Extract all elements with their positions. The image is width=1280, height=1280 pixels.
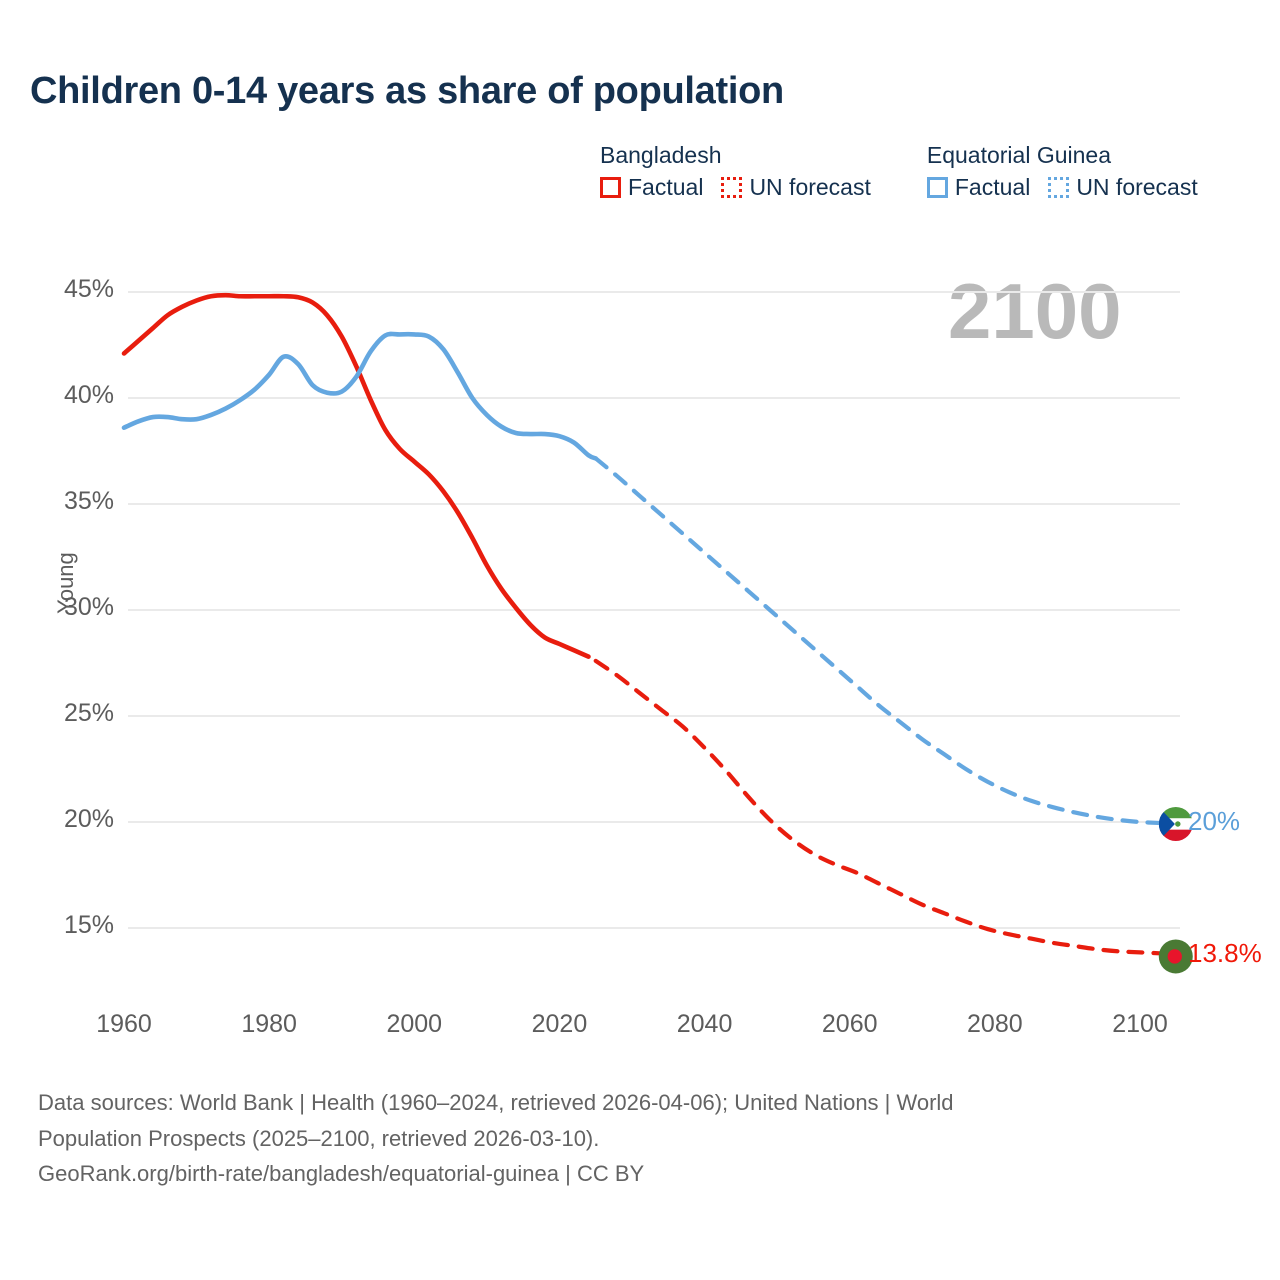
chart-legend: Bangladesh Factual UN forecast Equatoria… (600, 143, 1198, 201)
square-dotted-icon (721, 177, 742, 198)
series-lines (124, 295, 1162, 953)
legend-item-label: UN forecast (1076, 174, 1197, 201)
endpoint-label-equatorial-guinea: 20% (1188, 806, 1240, 837)
legend-item-equatorial-guinea-factual[interactable]: Factual (927, 174, 1030, 201)
legend-country-label: Equatorial Guinea (927, 143, 1198, 168)
legend-item-equatorial-guinea-forecast[interactable]: UN forecast (1048, 174, 1197, 201)
square-outline-icon (927, 177, 948, 198)
page-title: Children 0-14 years as share of populati… (30, 70, 784, 113)
legend-group-equatorial-guinea: Equatorial Guinea Factual UN forecast (927, 143, 1198, 201)
y-tick-label: 35% (22, 487, 114, 516)
square-dotted-icon (1048, 177, 1069, 198)
x-tick-label: 2000 (359, 1010, 469, 1039)
footer-sources: Data sources: World Bank | Health (1960–… (38, 1085, 1238, 1192)
legend-item-label: Factual (628, 174, 703, 201)
y-tick-label: 30% (22, 593, 114, 622)
y-tick-label: 45% (22, 275, 114, 304)
x-tick-label: 2040 (650, 1010, 760, 1039)
y-tick-label: 40% (22, 381, 114, 410)
legend-item-label: Factual (955, 174, 1030, 201)
footer-line-2: Population Prospects (2025–2100, retriev… (38, 1121, 1238, 1157)
legend-row: Factual UN forecast (600, 174, 871, 201)
year-watermark: 2100 (948, 272, 1122, 350)
y-axis-title: Young (53, 513, 79, 653)
y-tick-label: 15% (22, 911, 114, 940)
footer-line-3: GeoRank.org/birth-rate/bangladesh/equato… (38, 1156, 1238, 1192)
legend-row: Factual UN forecast (927, 174, 1198, 201)
series-line-bangladesh-forecast (596, 661, 1162, 954)
legend-item-bangladesh-forecast[interactable]: UN forecast (721, 174, 870, 201)
series-line-equatorial-guinea-factual (124, 334, 596, 459)
series-line-equatorial-guinea-forecast (596, 458, 1162, 823)
x-tick-label: 2080 (940, 1010, 1050, 1039)
endpoint-label-bangladesh: 13.8% (1188, 938, 1262, 969)
x-tick-label: 2020 (504, 1010, 614, 1039)
legend-country-label: Bangladesh (600, 143, 871, 168)
x-tick-label: 2060 (795, 1010, 905, 1039)
series-line-bangladesh-factual (124, 295, 588, 656)
legend-item-label: UN forecast (749, 174, 870, 201)
square-outline-icon (600, 177, 621, 198)
footer-line-1: Data sources: World Bank | Health (1960–… (38, 1085, 1238, 1121)
y-tick-label: 20% (22, 805, 114, 834)
legend-item-bangladesh-factual[interactable]: Factual (600, 174, 703, 201)
x-tick-label: 1960 (69, 1010, 179, 1039)
legend-group-bangladesh: Bangladesh Factual UN forecast (600, 143, 871, 201)
x-tick-label: 1980 (214, 1010, 324, 1039)
y-tick-label: 25% (22, 699, 114, 728)
x-tick-label: 2100 (1085, 1010, 1195, 1039)
gridlines (128, 292, 1180, 928)
